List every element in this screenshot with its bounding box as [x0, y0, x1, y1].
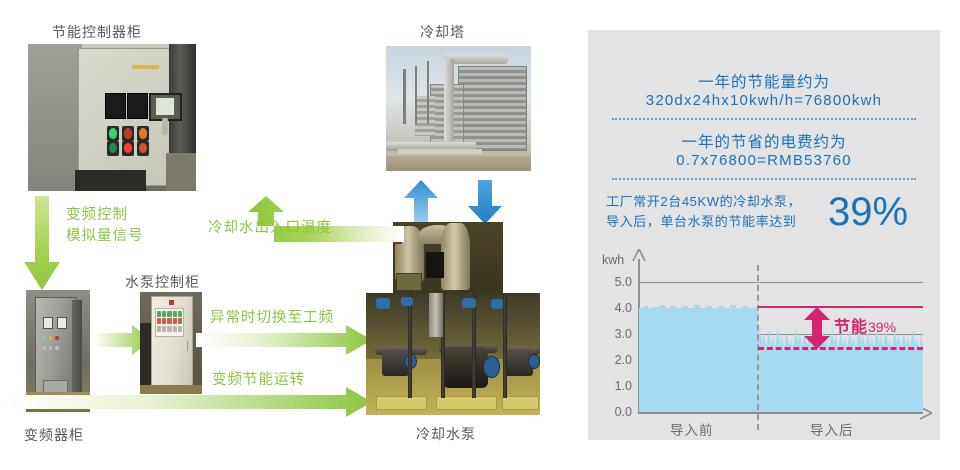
green-arrow-vfd-saving-run [0, 387, 372, 417]
panel-block1-title: 一年的节能量约为 [588, 70, 940, 92]
chart-ytick-1: 1.0 [598, 379, 632, 393]
chart-gridline-5 [639, 282, 923, 283]
label-vfd-signal-line2: 模拟量信号 [66, 224, 144, 245]
saving-annotation-label: 节能 [834, 319, 868, 336]
saving-annotation: 节能39% [834, 313, 896, 337]
blue-arrow-down [468, 180, 502, 224]
panel-block2-formula: 0.7x76800=RMB53760 [588, 152, 940, 169]
summary-panel: 一年的节能量约为 320dx24hx10kwh/h=76800kwh 一年的节省… [588, 30, 940, 440]
chart-ytick-0: 0.0 [598, 405, 632, 419]
chart-ytick-5: 5.0 [598, 275, 632, 289]
label-vfd-signal-line1: 变频控制 [66, 203, 128, 224]
green-arrow-control-signal [24, 196, 60, 290]
panel-saving-rate-value: 39% [828, 190, 908, 235]
label-water-temperature: 冷却水出入口温度 [208, 216, 332, 237]
photo-cooling-water-pump [366, 293, 540, 415]
label-switch-to-mains: 异常时切换至工频 [210, 306, 334, 327]
blue-arrow-up [404, 180, 438, 224]
chart-area-after [758, 347, 923, 412]
green-arrow-switch-mains [196, 325, 372, 355]
saving-annotation-percent: 39% [868, 319, 896, 335]
photo-controller-cabinet [28, 44, 196, 191]
chart-x-axis [638, 412, 923, 414]
chart-y-axis-arrow [632, 249, 646, 263]
label-cooling-water-pump: 冷却水泵 [416, 424, 476, 444]
chart-baseline-line [758, 306, 923, 308]
label-vfd-saving-run: 变频节能运转 [212, 368, 305, 389]
chart-y-unit: kwh [602, 253, 624, 267]
panel-note-line2: 导入后，单台水泵的节能率达到 [606, 212, 836, 232]
panel-divider-1 [612, 118, 916, 120]
chart-ytick-2: 2.0 [598, 353, 632, 367]
chart-noise-before [639, 303, 758, 313]
panel-note-line1: 工厂常开2台45KW的冷却水泵， [606, 192, 836, 212]
photo-cooling-tower [386, 46, 531, 171]
infographic-root: 节能控制器柜 冷却塔 [0, 0, 960, 470]
photo-pump-control-cabinet [140, 292, 202, 394]
panel-divider-2 [612, 178, 916, 180]
chart-after-level-line [758, 347, 923, 350]
saving-gap-arrow-icon [804, 307, 830, 349]
label-controller-cabinet: 节能控制器柜 [52, 22, 142, 42]
chart-xlabel-before: 导入前 [670, 419, 714, 439]
chart-ytick-4: 4.0 [598, 301, 632, 315]
energy-chart: kwh 0.0 1.0 2.0 3.0 4.0 5.0 [588, 245, 940, 440]
label-vfd-cabinet: 变频器柜 [24, 425, 84, 445]
photo-pipe-sensor [393, 222, 503, 294]
label-pump-control-cabinet: 水泵控制柜 [125, 272, 200, 292]
chart-ytick-3: 3.0 [598, 327, 632, 341]
label-cooling-tower: 冷却塔 [420, 22, 465, 42]
panel-block2-title: 一年的节省的电费约为 [588, 130, 940, 152]
chart-area-before [639, 308, 758, 412]
chart-xlabel-after: 导入后 [810, 419, 854, 439]
panel-block1-formula: 320dx24hx10kwh/h=76800kwh [588, 92, 940, 109]
